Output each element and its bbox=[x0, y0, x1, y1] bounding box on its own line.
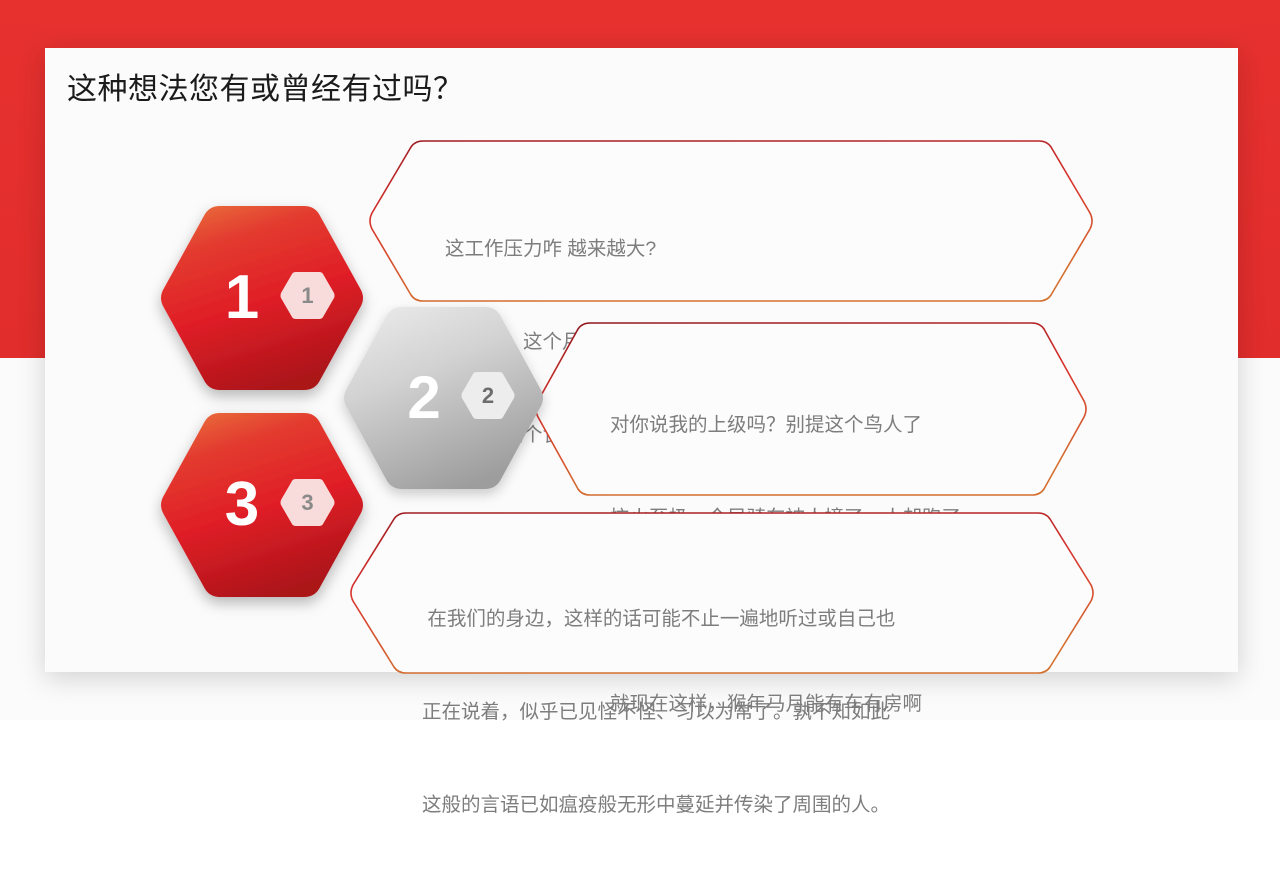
hexagon-2-badge-shape bbox=[342, 305, 545, 491]
banner-1: 这工作压力咋 越来越大? 真纠结，这个月我的工资又没拿到全额 天哪，这个食堂的菜… bbox=[367, 138, 1097, 304]
hexagon-2-badge-number: 2 bbox=[473, 385, 503, 407]
banner-2-line-1: 对你说我的上级吗？别提这个鸟人了 bbox=[610, 410, 961, 441]
banner-3-text: 在我们的身边，这样的话可能不止一遍地听过或自己也 正在说着，似乎已见怪不怪、习以… bbox=[422, 542, 895, 883]
banner-3-line-2: 正在说着，似乎已见怪不怪、习以为常了。孰不知如此 bbox=[422, 697, 895, 728]
hexagon-1-badge-number: 1 bbox=[292, 285, 323, 307]
banner-3: 在我们的身边，这样的话可能不止一遍地听过或自己也 正在说着，似乎已见怪不怪、习以… bbox=[348, 510, 1098, 676]
hexagon-3-badge-shape bbox=[159, 411, 365, 599]
banner-1-line-1: 这工作压力咋 越来越大? bbox=[445, 234, 796, 265]
banner-3-line-3: 这般的言语已如瘟疫般无形中蔓延并传染了周围的人。 bbox=[422, 790, 895, 821]
slide-stage: 这种想法您有或曾经有过吗？ 这工作压力咋 越来越大? 真纠结，这个月我的工资又没… bbox=[0, 0, 1280, 720]
hexagon-3-badge-number: 3 bbox=[292, 492, 323, 514]
step-hexagon-1[interactable]: 1 1 bbox=[159, 204, 365, 392]
hexagon-1-badge-shape bbox=[159, 204, 365, 392]
content-card: 这种想法您有或曾经有过吗？ 这工作压力咋 越来越大? 真纠结，这个月我的工资又没… bbox=[45, 48, 1238, 672]
page-title: 这种想法您有或曾经有过吗？ bbox=[67, 64, 464, 108]
banner-3-line-1: 在我们的身边，这样的话可能不止一遍地听过或自己也 bbox=[422, 604, 895, 635]
banner-2: 对你说我的上级吗？别提这个鸟人了 恼火至极，今早骑车被人撞了，人却跑了 唉，又没… bbox=[532, 320, 1091, 498]
step-hexagon-2[interactable]: 2 2 bbox=[342, 305, 545, 491]
step-hexagon-3[interactable]: 3 3 bbox=[159, 411, 365, 599]
